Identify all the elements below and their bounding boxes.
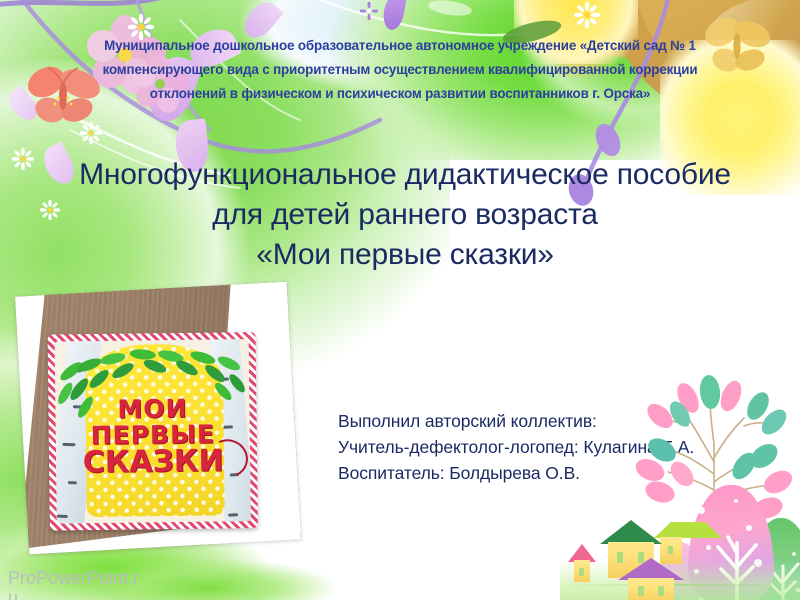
felt-book: МОИ ПЕРВЫЕ СКАЗКИ — [48, 332, 258, 531]
daisy-icon — [360, 2, 378, 20]
daisy-icon — [574, 2, 600, 28]
house-pink-roof — [568, 544, 596, 582]
book-word-1: МОИ — [55, 395, 249, 423]
daisy-icon — [80, 122, 102, 144]
institution-header: Муниципальное дошкольное образовательное… — [34, 34, 766, 106]
title-line-3: «Мои первые сказки» — [60, 235, 750, 275]
village-illustration — [560, 370, 800, 600]
institution-line-3: отклонений в физическом и психическом ра… — [34, 82, 766, 106]
institution-line-2: компенсирующего вида с приоритетным осущ… — [34, 58, 766, 82]
daisy-icon — [12, 148, 34, 170]
title-line-1: Многофункциональное дидактическое пособи… — [60, 155, 750, 195]
page-title: Многофункциональное дидактическое пособи… — [60, 155, 750, 275]
title-line-2: для детей раннего возраста — [60, 195, 750, 235]
watermark-line-1: ProPowerPoint.r — [8, 568, 139, 588]
petal-purple-icon — [381, 0, 407, 31]
daisy-icon — [40, 200, 60, 220]
roof-purple-icon — [618, 558, 684, 580]
presentation-slide: МОИ ПЕРВЫЕ СКАЗКИ Муниципальное дошкольн… — [0, 0, 800, 600]
watermark-line-2: u — [8, 588, 139, 600]
watermark: ProPowerPoint.r u — [8, 568, 139, 600]
book-cover: МОИ ПЕРВЫЕ СКАЗКИ — [55, 339, 251, 523]
product-photo: МОИ ПЕРВЫЕ СКАЗКИ — [15, 282, 301, 555]
roof-green-icon — [600, 520, 662, 544]
institution-line-1: Муниципальное дошкольное образовательное… — [34, 34, 766, 58]
house-purple-roof — [618, 558, 684, 600]
